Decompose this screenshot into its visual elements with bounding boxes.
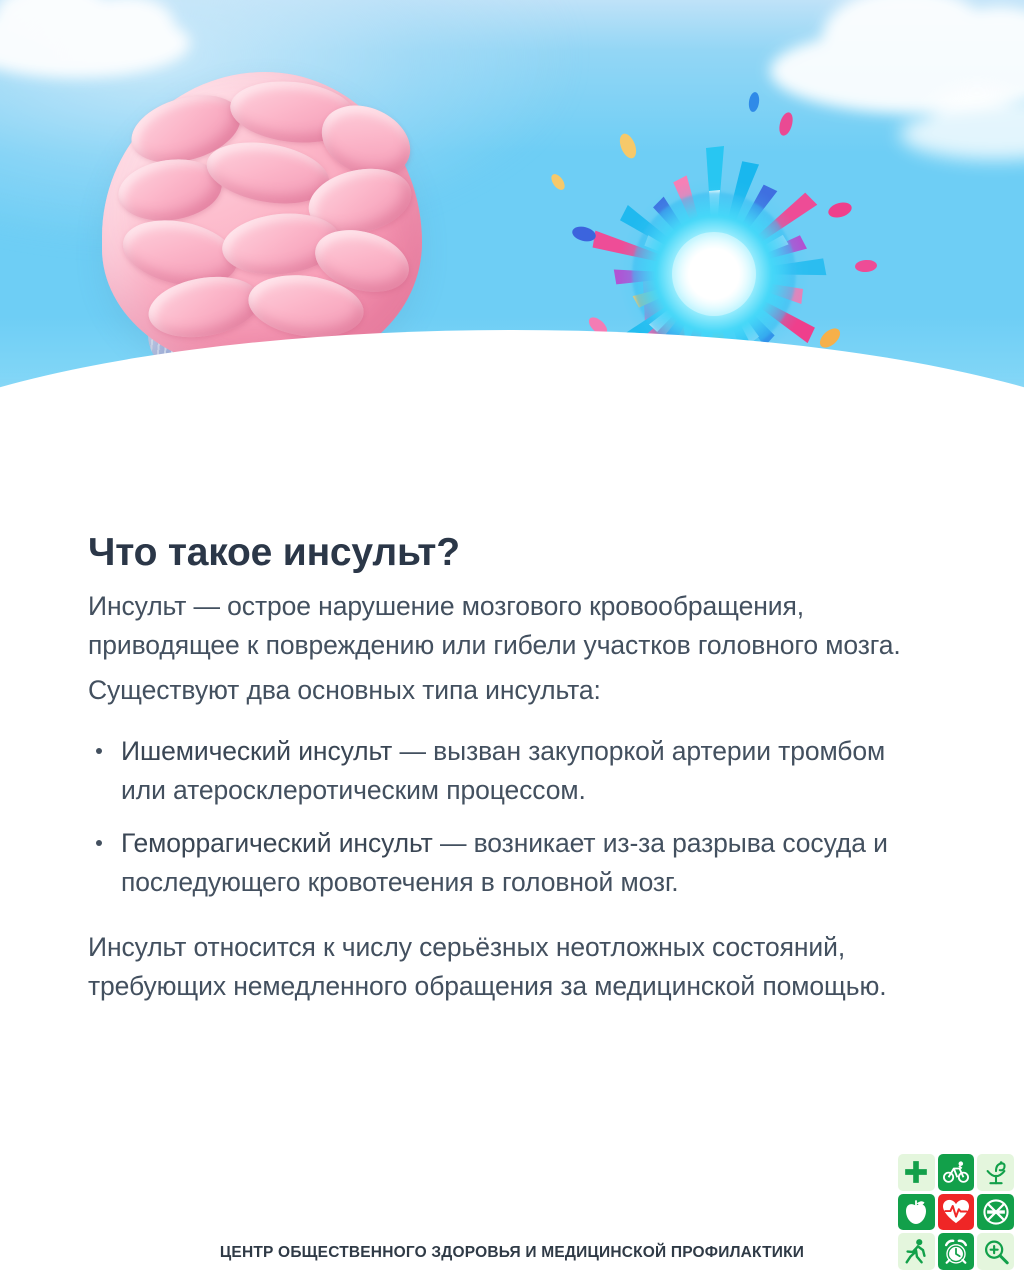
closing-paragraph: Инсульт относится к числу серьёзных неот… [88, 928, 936, 1006]
bullet-dot-icon [96, 748, 102, 754]
magnifier-plus-icon [977, 1233, 1014, 1270]
intro-paragraph: Инсульт — острое нарушение мозгового кро… [88, 587, 936, 665]
alarm-clock-icon [938, 1233, 975, 1270]
list-item: Геморрагический инсульт — возникает из-з… [88, 824, 936, 902]
bicycle-icon [938, 1154, 975, 1191]
bullet-dot-icon [96, 840, 102, 846]
heart-pulse-icon [938, 1194, 975, 1231]
stroke-type-name: Геморрагический инсульт [121, 828, 433, 858]
stroke-type-name: Ишемический инсульт [121, 736, 392, 766]
burst-core-hotspot [672, 232, 756, 316]
hero-curve-mask [0, 330, 1024, 510]
page-title: Что такое инсульт? [88, 532, 936, 575]
no-smoking-icon [977, 1194, 1014, 1231]
types-lead-in: Существуют два основных типа инсульта: [88, 671, 936, 710]
medical-cross-icon [898, 1154, 935, 1191]
apple-icon [898, 1194, 935, 1231]
brain-body [102, 72, 422, 372]
running-person-icon [898, 1233, 935, 1270]
footer: ЦЕНТР ОБЩЕСТВЕННОГО ЗДОРОВЬЯ И МЕДИЦИНСК… [0, 1140, 1024, 1280]
article-content: Что такое инсульт? Инсульт — острое нару… [0, 510, 1024, 1005]
organization-name: ЦЕНТР ОБЩЕСТВЕННОГО ЗДОРОВЬЯ И МЕДИЦИНСК… [0, 1244, 1024, 1262]
health-center-logo [896, 1152, 1016, 1272]
hero-image [0, 0, 1024, 510]
infographic-page: Что такое инсульт? Инсульт — острое нару… [0, 0, 1024, 1280]
list-item: Ишемический инсульт — вызван закупоркой … [88, 732, 936, 810]
stroke-types-list: Ишемический инсульт — вызван закупоркой … [88, 732, 936, 902]
bowl-of-hygieia-icon [977, 1154, 1014, 1191]
